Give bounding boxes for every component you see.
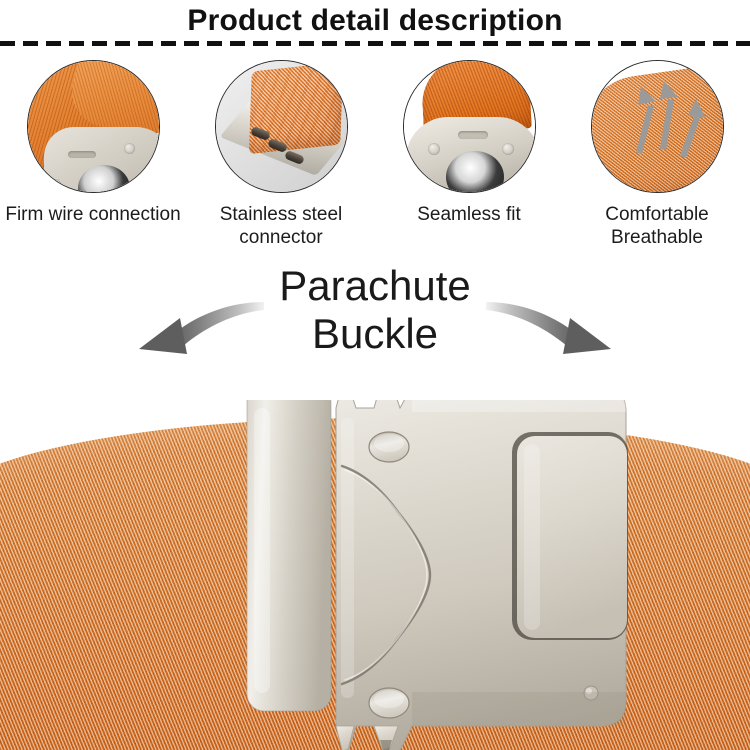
stainless-steel-connector-icon: [215, 60, 348, 193]
seamless-fit-icon: [403, 60, 536, 193]
curved-arrow-left-icon: [135, 296, 265, 374]
feature-item-comfortable-breathable: Comfortable Breathable: [564, 58, 750, 248]
feature-label-firm-wire-connection: Firm wire connection: [0, 203, 186, 226]
comfortable-breathable-icon: [591, 60, 724, 193]
feature-item-firm-wire-connection: Firm wire connection: [0, 58, 186, 248]
parachute-buckle-photo: [0, 400, 750, 750]
parachute-buckle-hardware: [0, 400, 750, 750]
page-title: Product detail description: [0, 2, 750, 40]
feature-row: Firm wire connection Stainless steel con…: [0, 58, 750, 248]
buckle-body: [336, 400, 628, 750]
header-dashed-divider: [0, 41, 750, 46]
airflow-arrows-icon: [592, 61, 723, 192]
feature-item-stainless-steel-connector: Stainless steel connector: [188, 58, 374, 248]
curved-arrow-right-icon: [485, 296, 615, 374]
buckle-heading: Parachute Buckle: [0, 262, 750, 358]
feature-label-stainless-steel-connector: Stainless steel connector: [188, 203, 374, 249]
buckle-prong-tips: [336, 726, 398, 750]
feature-label-seamless-fit: Seamless fit: [376, 203, 562, 226]
feature-label-comfortable-breathable: Comfortable Breathable: [564, 203, 750, 249]
buckle-keeper-bar: [247, 400, 331, 711]
product-detail-page: Product detail description Firm wire con…: [0, 0, 750, 750]
firm-wire-connection-icon: [27, 60, 160, 193]
feature-item-seamless-fit: Seamless fit: [376, 58, 562, 248]
